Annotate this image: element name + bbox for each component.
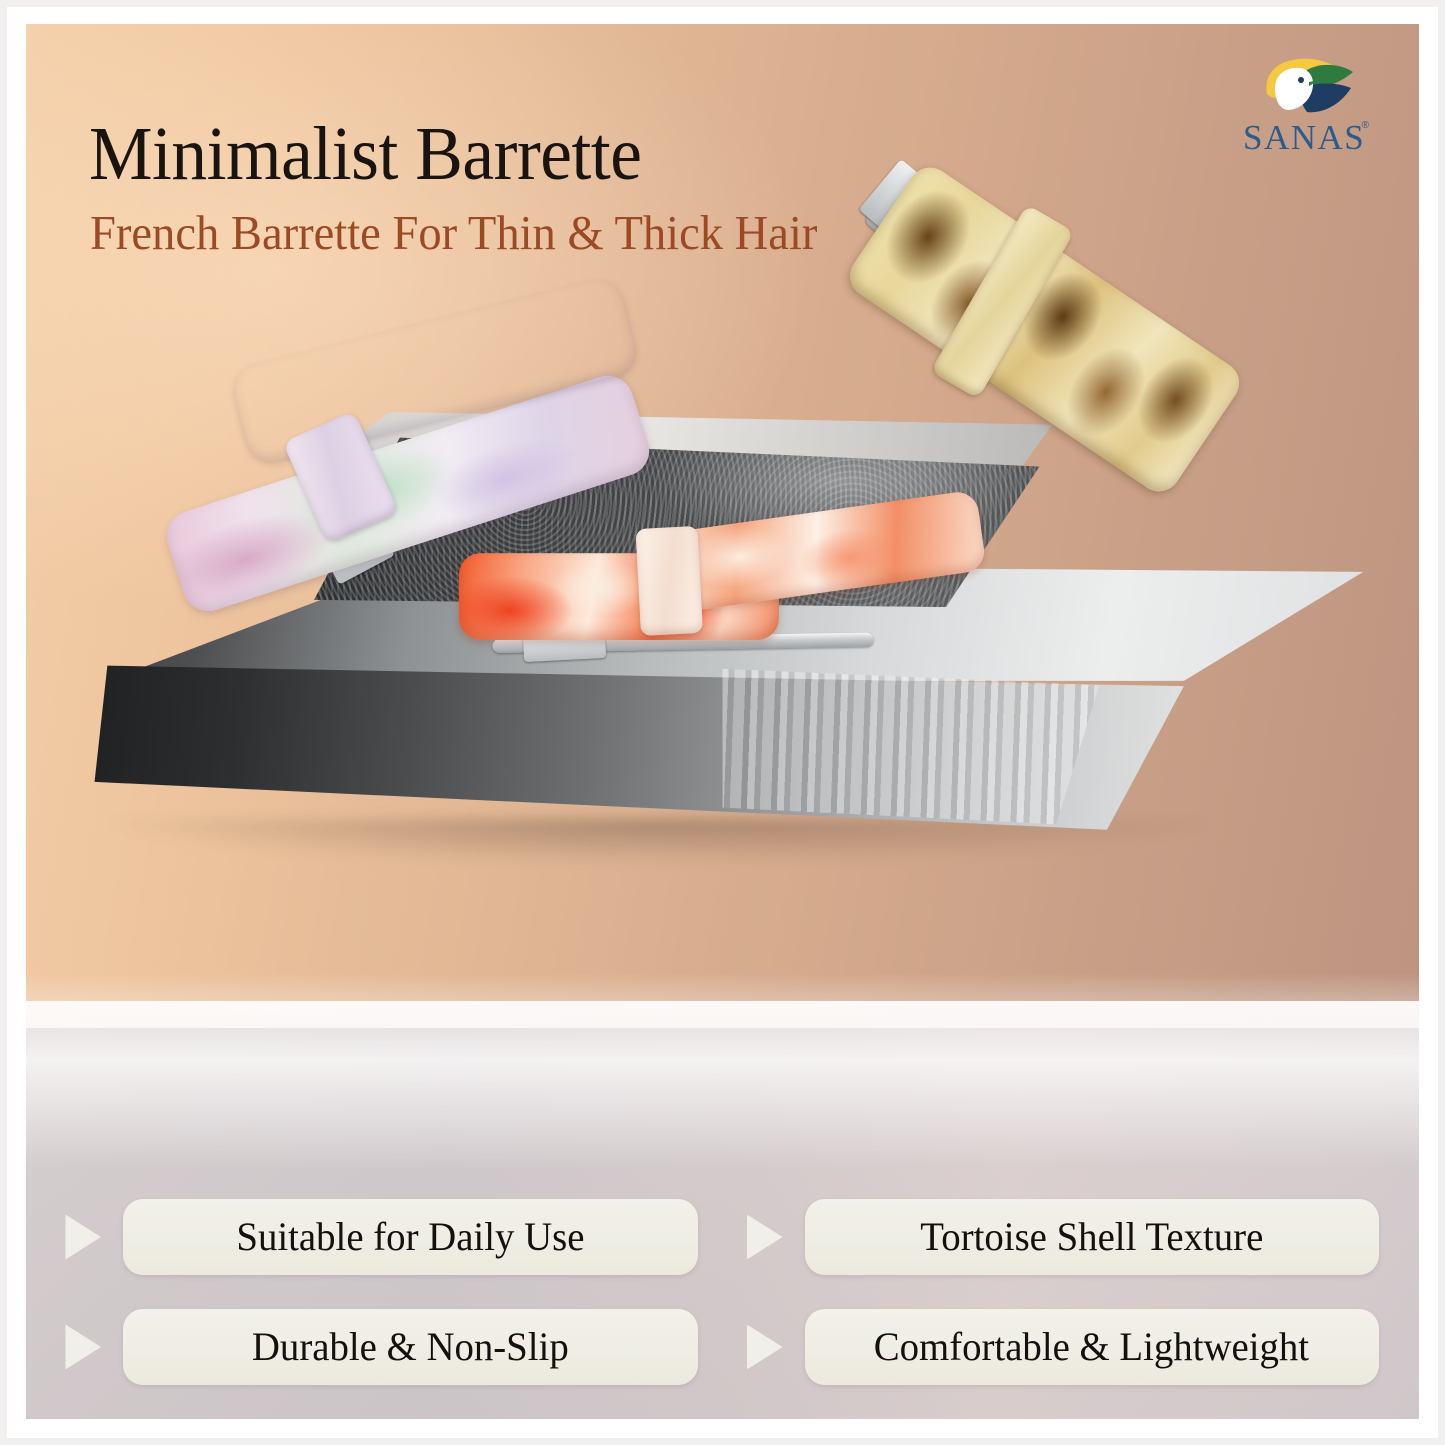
triangle-right-icon	[64, 1213, 101, 1261]
feature-item: Suitable for Daily Use	[64, 1199, 698, 1275]
product-photo	[26, 24, 1419, 1084]
triangle-right-icon	[746, 1213, 783, 1261]
product-canvas: Minimalist Barrette French Barrette For …	[26, 24, 1419, 1419]
feature-item: Durable & Non-Slip	[64, 1309, 698, 1385]
coral-center-knot	[636, 525, 703, 635]
feature-pill: Durable & Non-Slip	[123, 1309, 698, 1385]
slab-marble-veins	[722, 659, 1260, 824]
feature-label: Durable & Non-Slip	[252, 1327, 569, 1367]
feature-pill: Suitable for Daily Use	[123, 1199, 698, 1275]
image-frame: Minimalist Barrette French Barrette For …	[0, 0, 1445, 1445]
feature-list: Suitable for Daily Use Tortoise Shell Te…	[26, 1199, 1419, 1385]
feature-item: Tortoise Shell Texture	[746, 1199, 1380, 1275]
triangle-right-icon	[64, 1323, 101, 1371]
triangle-right-icon	[746, 1323, 783, 1371]
feature-item: Comfortable & Lightweight	[746, 1309, 1380, 1385]
feature-label: Tortoise Shell Texture	[920, 1217, 1263, 1257]
feature-pill: Comfortable & Lightweight	[805, 1309, 1380, 1385]
feature-label: Comfortable & Lightweight	[874, 1327, 1309, 1367]
feature-label: Suitable for Daily Use	[236, 1217, 584, 1257]
feature-pill: Tortoise Shell Texture	[805, 1199, 1380, 1275]
